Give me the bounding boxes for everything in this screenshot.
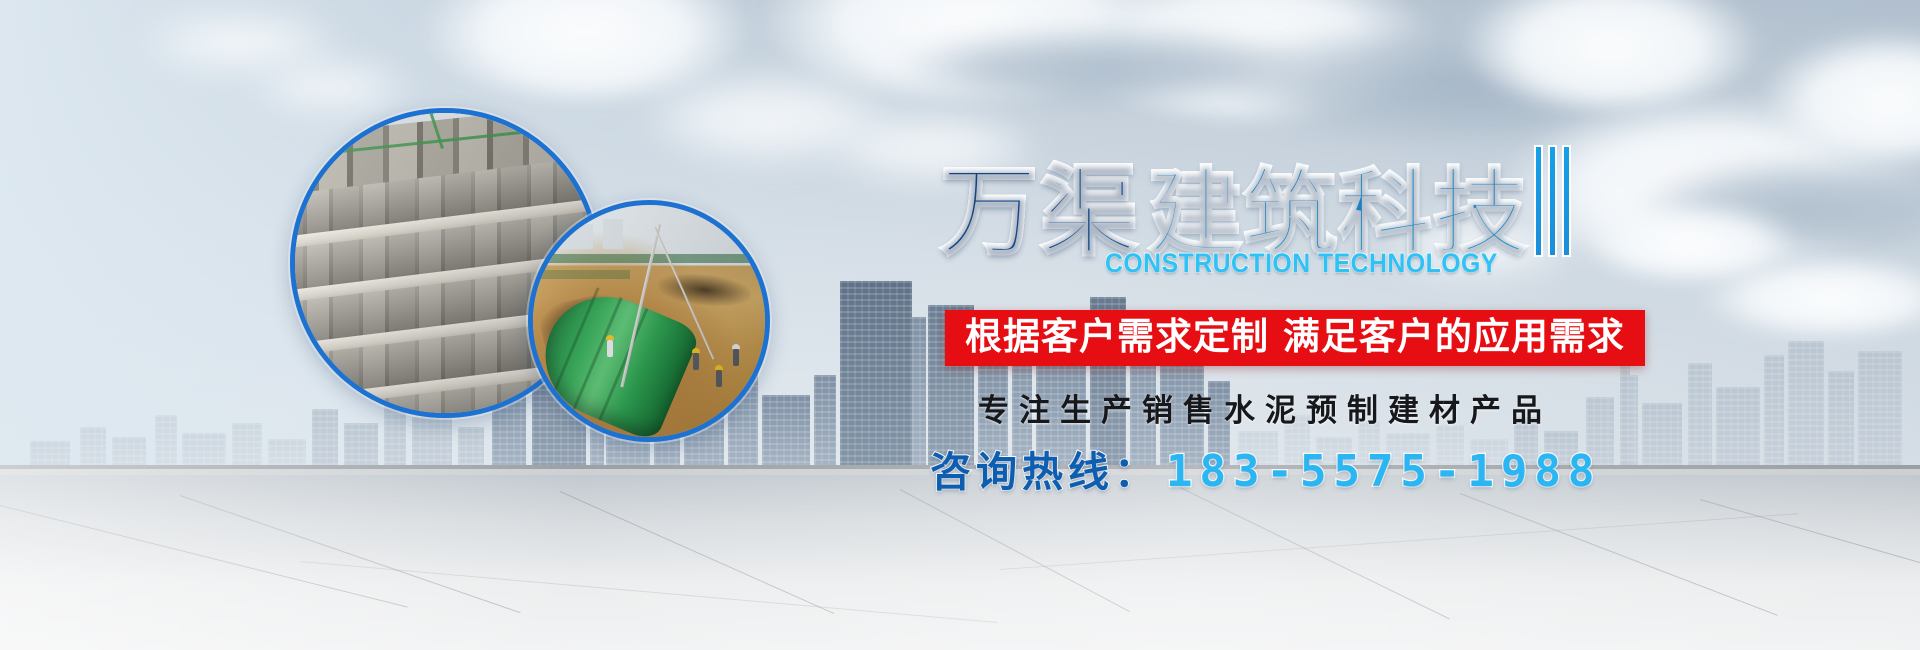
hotline-row: 咨询热线： 183-5575-1988: [930, 438, 1601, 498]
brand-subtitle-english: CONSTRUCTION TECHNOLOGY: [1105, 248, 1498, 279]
hotline-label: 咨询热线：: [930, 438, 1160, 498]
brand-name-light: 建筑科技: [1148, 167, 1528, 261]
photo-circle-septic-tank-install: [528, 200, 770, 442]
hotline-number[interactable]: 183-5575-1988: [1166, 446, 1601, 497]
accent-bars-icon: [1534, 145, 1571, 257]
brand-title: 万渠 建筑科技: [940, 145, 1571, 261]
promise-banner-text: 根据客户需求定制 满足客户的应用需求: [965, 315, 1625, 358]
brand-name-dark: 万渠: [940, 163, 1140, 261]
banner-text-block: 万渠 建筑科技 CONSTRUCTION TECHNOLOGY 根据客户需求定制…: [900, 120, 1900, 540]
promise-banner: 根据客户需求定制 满足客户的应用需求: [945, 310, 1645, 366]
hero-banner: 万渠 建筑科技 CONSTRUCTION TECHNOLOGY 根据客户需求定制…: [0, 0, 1920, 650]
business-tagline: 专注生产销售水泥预制建材产品: [978, 385, 1552, 430]
